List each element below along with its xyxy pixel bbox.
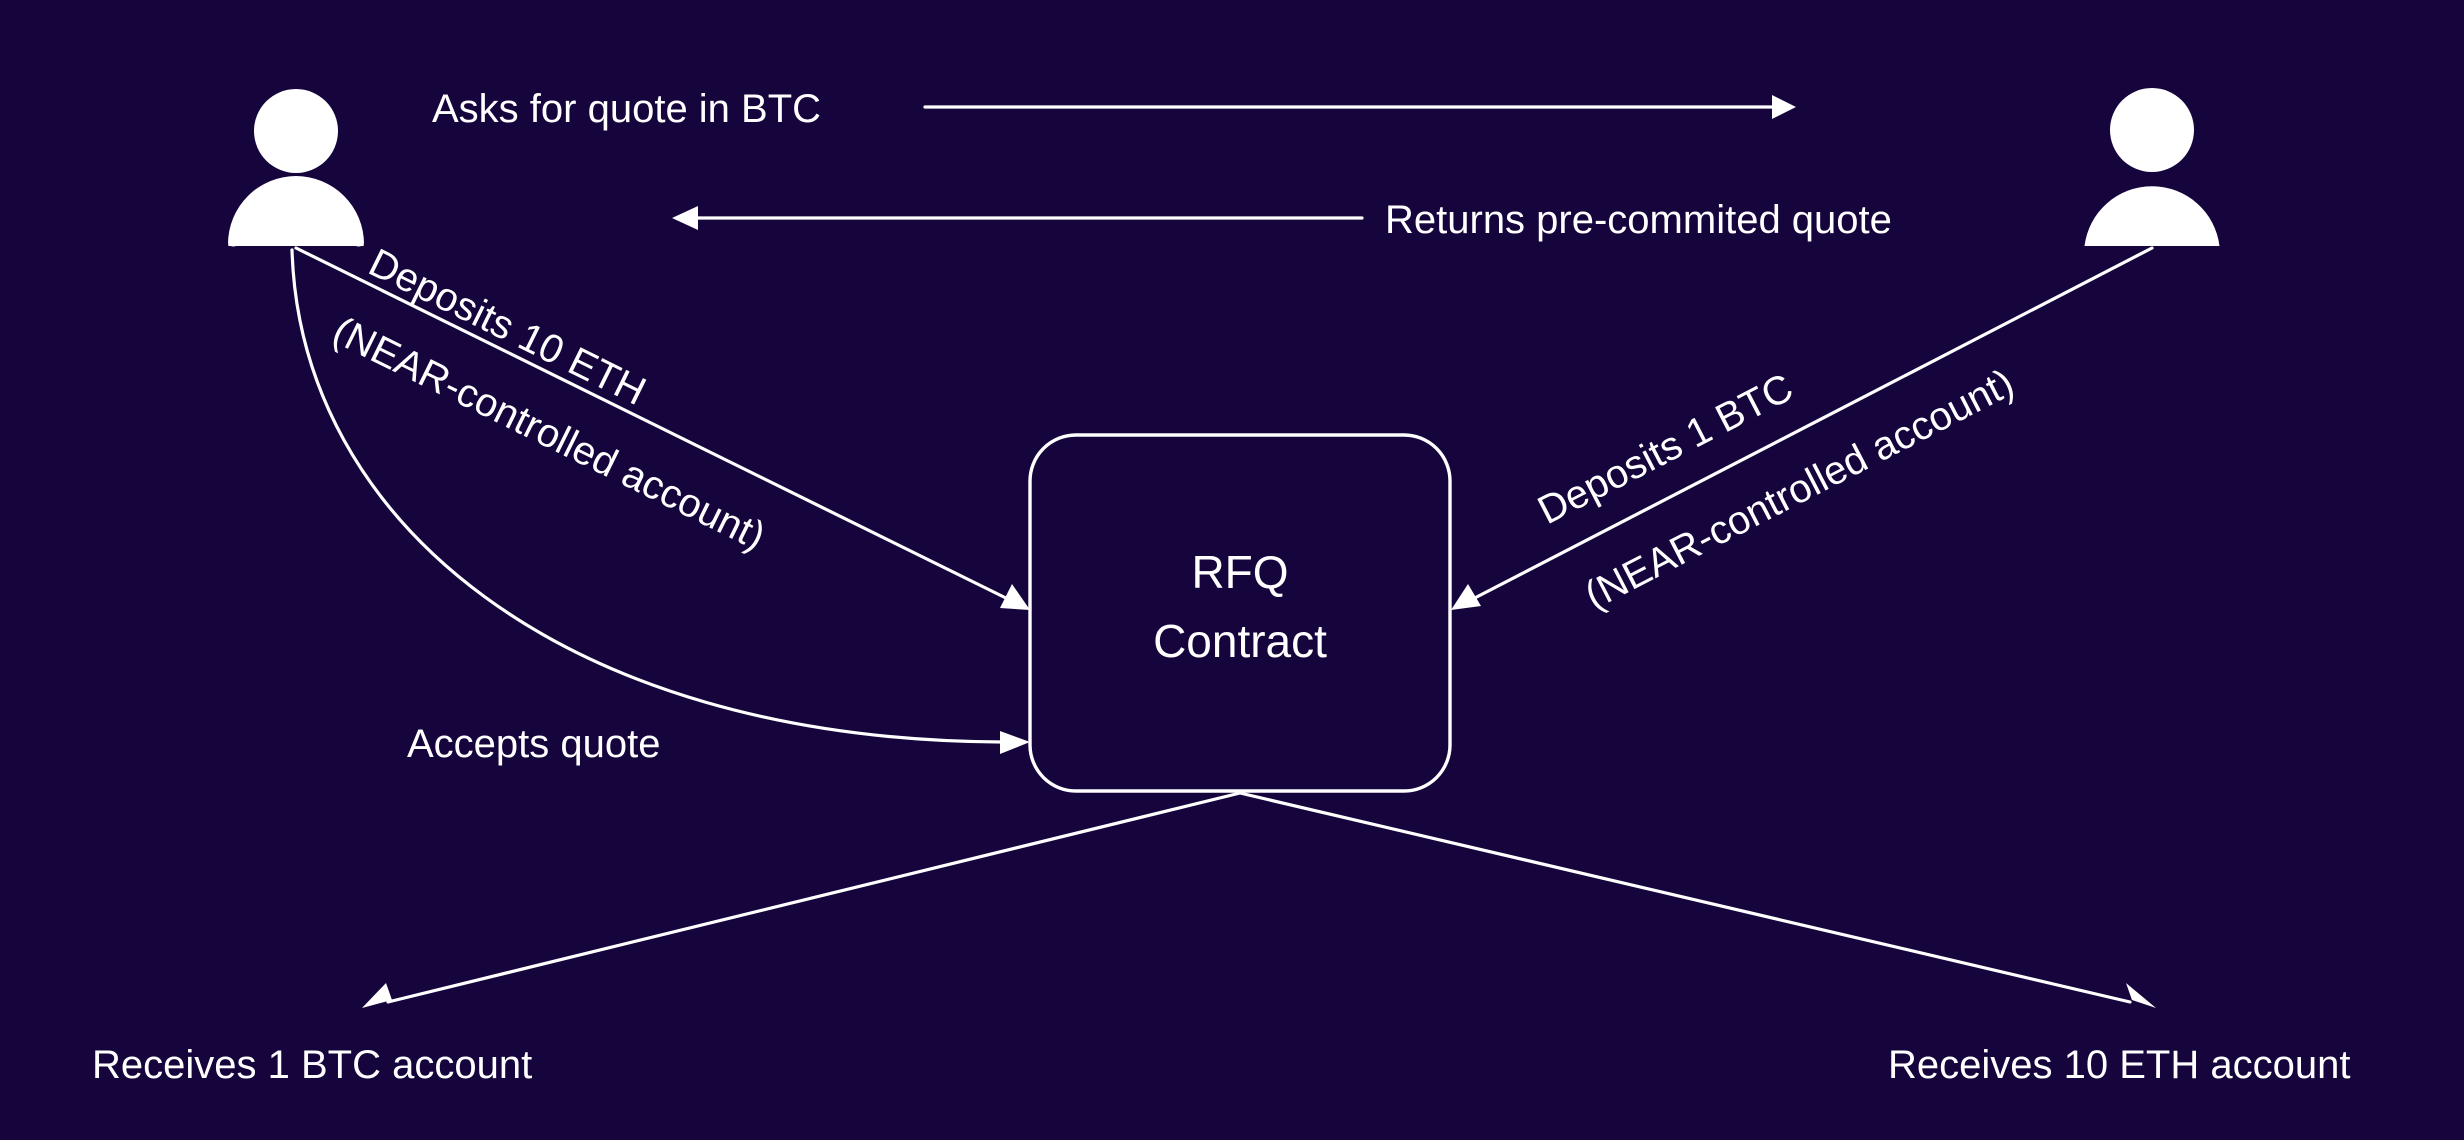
edge-returns-precommited-quote: Returns pre-commited quote bbox=[672, 198, 1892, 242]
edge-receives-1-btc: Receives 1 BTC account bbox=[92, 793, 1240, 1087]
edge-asks-for-quote: Asks for quote in BTC bbox=[432, 87, 1796, 131]
rfq-contract-node[interactable]: RFQ Contract bbox=[1030, 435, 1450, 791]
edge-label-asks-for-quote: Asks for quote in BTC bbox=[432, 87, 821, 131]
edge-label-deposits-1-btc-line2: (NEAR-controlled account) bbox=[1578, 361, 2021, 618]
rfq-flow-diagram: RFQ Contract Asks for quote in BTC Retur… bbox=[0, 0, 2464, 1140]
rfq-contract-label-line2: Contract bbox=[1153, 615, 1327, 667]
person-icon-right bbox=[2085, 88, 2220, 246]
edge-receives-10-eth: Receives 10 ETH account bbox=[1240, 793, 2350, 1087]
edge-label-receives-10-eth: Receives 10 ETH account bbox=[1888, 1043, 2350, 1087]
diagram-canvas: RFQ Contract Asks for quote in BTC Retur… bbox=[0, 0, 2464, 1140]
edge-deposits-10-eth: Deposits 10 ETH (NEAR-controlled account… bbox=[296, 241, 1030, 610]
rfq-contract-label-line1: RFQ bbox=[1191, 546, 1288, 598]
edge-label-returns-precommited-quote: Returns pre-commited quote bbox=[1385, 198, 1892, 242]
edge-label-accepts-quote: Accepts quote bbox=[407, 722, 661, 766]
edge-deposits-1-btc: Deposits 1 BTC (NEAR-controlled account) bbox=[1451, 248, 2152, 618]
edge-label-receives-1-btc: Receives 1 BTC account bbox=[92, 1043, 532, 1087]
person-icon-left bbox=[228, 89, 364, 248]
